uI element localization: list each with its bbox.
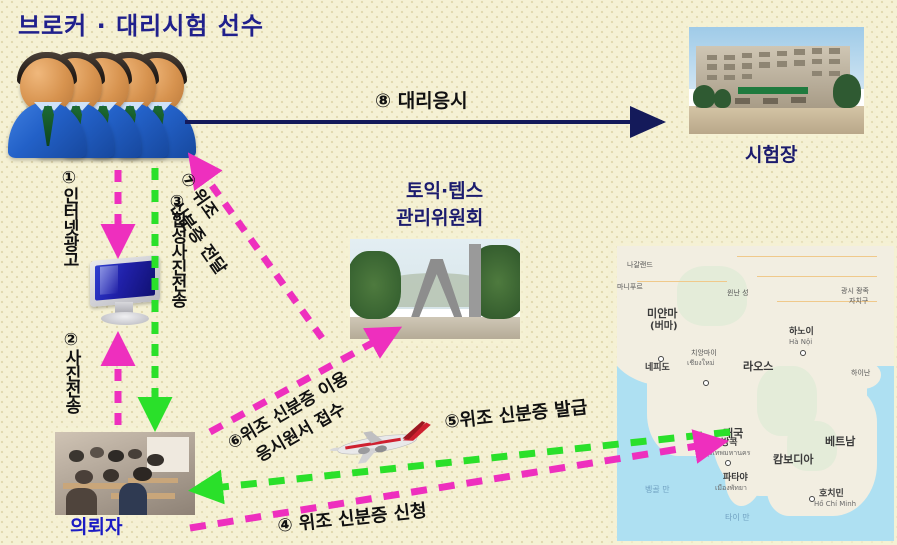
map-label-myanmar-sub: (버마) xyxy=(650,322,678,333)
flow-label-1: ①인터넷광고 xyxy=(60,168,77,318)
map-label-pattaya: 파타야 xyxy=(723,474,748,483)
flow-num-2: ② xyxy=(61,330,81,349)
diagram-canvas: 브로커 · 대리시험 선수 xyxy=(0,0,897,545)
map-label-hainan: 하이난 xyxy=(851,370,870,377)
airplane-icon xyxy=(325,420,435,466)
client-label: 의뢰자 xyxy=(70,512,122,539)
map-label-bangkok: 방콕 xyxy=(721,439,738,448)
flow-text-4: ④ 위조 신분증 신청 xyxy=(276,496,428,538)
map-label-manipur: 마니푸르 xyxy=(617,284,643,291)
map-label-yunnan: 윈난 성 xyxy=(727,290,749,297)
page-title: 브로커 · 대리시험 선수 xyxy=(18,6,264,41)
people-group-icon xyxy=(8,48,198,158)
school-building-photo xyxy=(689,27,864,134)
map-label-bangkok-thai: กรุงเทพมหานคร xyxy=(701,450,750,457)
map-label-myanmar: 미얀마 xyxy=(647,308,677,320)
map-label-hanoi: 하노이 xyxy=(789,328,814,337)
southeast-asia-map: 미얀마 (버마) 라오스 태국 캄보디아 베트남 네피도 하노이 Hà Nội … xyxy=(617,246,894,541)
flow-label-2: ②사진전송 xyxy=(62,330,79,455)
flow-num-1: ① xyxy=(59,168,79,187)
map-label-hochiminh-sub: Hồ Chí Minh xyxy=(814,501,856,508)
map-label-nagaland: 나갈랜드 xyxy=(627,262,653,269)
flow-label-8: ⑧ 대리응시 xyxy=(375,86,468,113)
map-label-laos: 라오스 xyxy=(743,361,773,373)
map-label-hochiminh: 호치민 xyxy=(819,490,844,499)
map-label-hanoi-sub: Hà Nội xyxy=(789,339,812,346)
map-label-gulf-of-thailand: 타이 만 xyxy=(725,514,750,522)
flow-label-4: ④ 위조 신분증 신청 xyxy=(276,496,428,538)
flow-text-1: 인터넷광고 xyxy=(59,187,79,267)
map-label-guangxi: 광시 좡족 xyxy=(841,288,869,295)
desktop-computer-icon xyxy=(88,258,162,328)
committee-label-line2: 관리위원회 xyxy=(396,203,483,230)
map-label-vietnam: 베트남 xyxy=(825,436,855,448)
flow-label-5: ⑤위조 신분증 발급 xyxy=(443,393,589,434)
university-gate-photo xyxy=(350,239,520,339)
flow-text-5: ⑤위조 신분증 발급 xyxy=(443,393,589,434)
exam-venue-label: 시험장 xyxy=(745,140,797,167)
committee-label-line1: 토익·텝스 xyxy=(406,176,483,203)
map-label-chiangmai-thai: เชียงใหม่ xyxy=(687,360,714,367)
map-label-pattaya-thai: เมืองพัทยา xyxy=(715,485,747,492)
flow-text-2: 사진전송 xyxy=(61,349,81,413)
map-label-bay-of-bengal: 벵골 만 xyxy=(645,486,670,494)
map-label-chiangmai: 치앙마이 xyxy=(691,350,717,357)
map-label-cambodia: 캄보디아 xyxy=(773,454,813,466)
map-label-guangxi-sub: 자치구 xyxy=(849,298,868,305)
map-label-naypyidaw: 네피도 xyxy=(645,364,670,373)
